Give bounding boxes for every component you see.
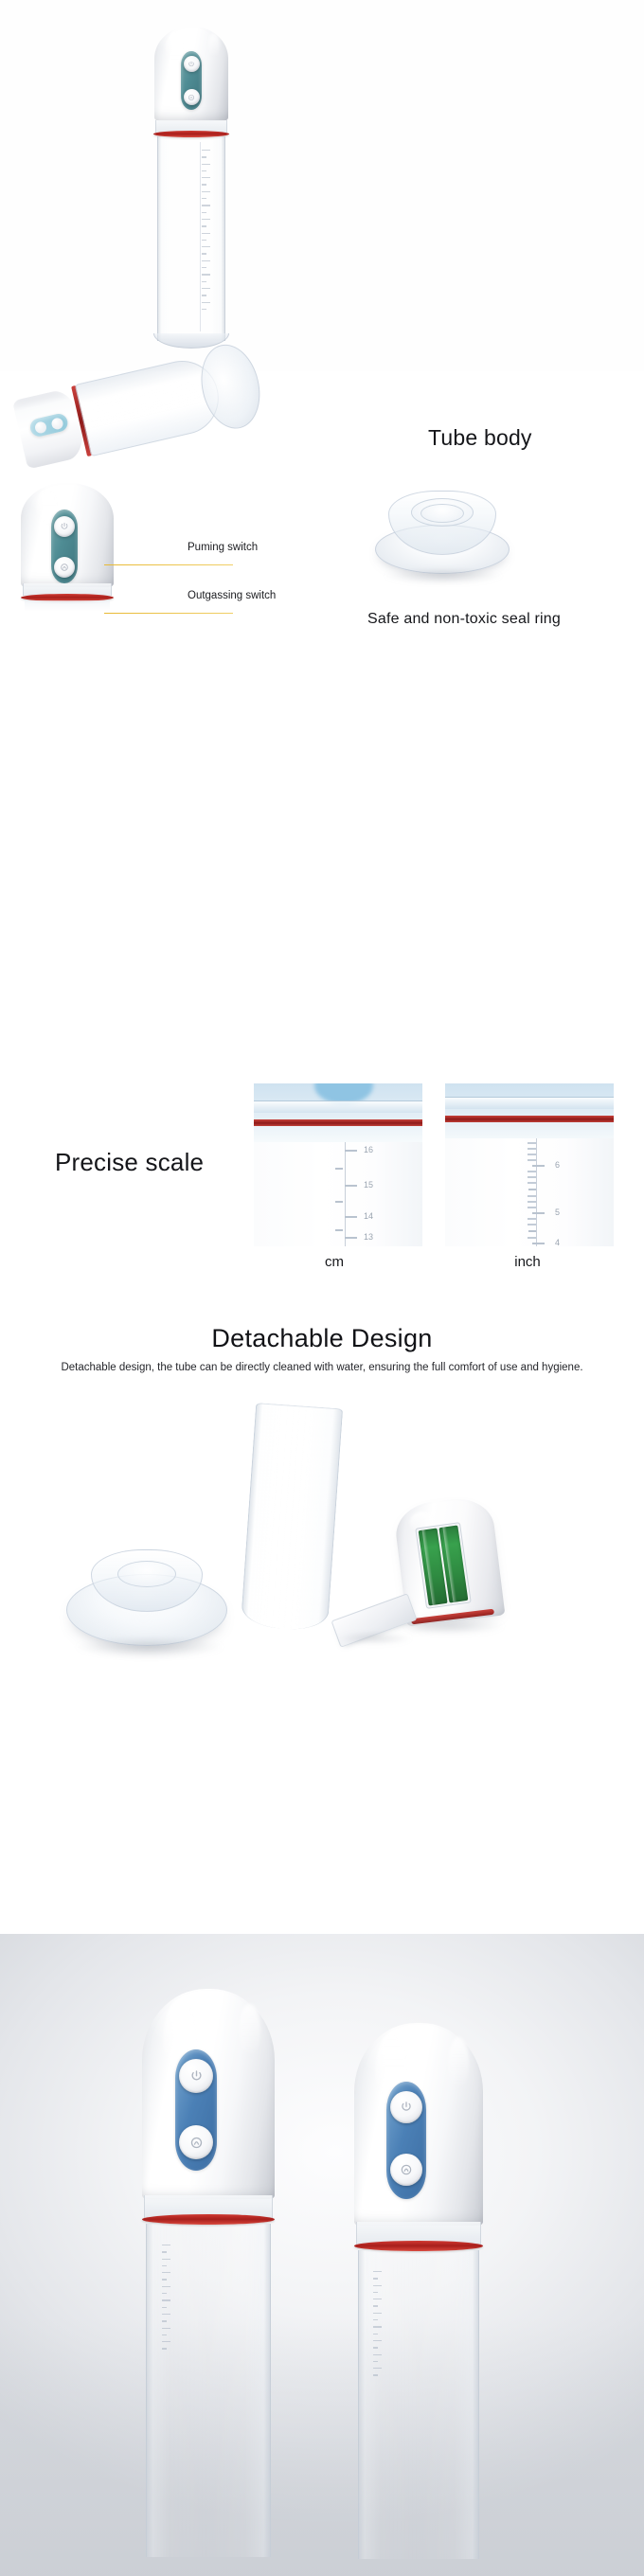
inch-tick-fine — [528, 1237, 536, 1239]
exploded-base-inner-ring — [117, 1561, 176, 1587]
cm-tick-major — [345, 1216, 357, 1218]
gallery-right-scale-ticks — [373, 2271, 382, 2382]
inch-unit-label: inch — [494, 1254, 561, 1270]
release-button[interactable] — [184, 89, 200, 105]
closeup-power-button[interactable] — [54, 516, 75, 537]
gallery-unit-left — [142, 1989, 282, 2557]
gallery-right-power-button[interactable] — [390, 2091, 422, 2123]
gallery-right-tube — [358, 2250, 479, 2559]
gallery-left-scale-ticks — [162, 2245, 170, 2355]
cap-closeup-photo — [15, 483, 121, 612]
seal-ring-photo — [375, 485, 510, 583]
gallery-left-tube — [146, 2224, 271, 2557]
tube-body-label: Tube body — [428, 425, 532, 451]
callout-label-puming: Puming switch — [188, 542, 258, 553]
power-icon — [189, 2069, 204, 2084]
cm-tick-major — [345, 1237, 357, 1239]
inch-tick-fine — [528, 1159, 536, 1161]
product-feature-page: Tube body — [0, 0, 644, 2576]
power-button[interactable] — [184, 56, 200, 72]
gallery-left-power-button[interactable] — [179, 2059, 213, 2093]
gallery-left-release-button[interactable] — [179, 2125, 213, 2159]
leader-line-outgassing — [104, 613, 233, 614]
inch-tick-fine — [528, 1176, 536, 1178]
cm-seal-ring-band — [254, 1119, 422, 1126]
exploded-clear-tube — [241, 1403, 343, 1632]
cm-ruler-cap-band — [254, 1083, 422, 1142]
closeup-release-button[interactable] — [54, 557, 75, 578]
cm-tick-major — [345, 1185, 357, 1187]
precise-scale-heading: Precise scale — [55, 1148, 204, 1177]
cm-tick-minor — [335, 1168, 343, 1170]
inch-tick-fine — [528, 1224, 536, 1225]
power-icon — [188, 61, 195, 68]
inch-tick-fine — [528, 1182, 536, 1184]
inch-ruler-cap-band — [445, 1083, 614, 1142]
inch-tick-label: 5 — [555, 1208, 560, 1217]
inch-tick-label: 4 — [555, 1239, 560, 1246]
detachable-design-section: Detachable Design Detachable design, the… — [0, 1307, 644, 1934]
detachable-title: Detachable Design — [0, 1324, 644, 1353]
air-release-icon — [60, 563, 69, 572]
inch-tick-fine — [528, 1154, 536, 1155]
tube-seam — [200, 142, 201, 331]
gallery-section — [0, 1934, 644, 2576]
inch-glass-band — [445, 1097, 614, 1109]
inch-tick-minor — [528, 1230, 536, 1232]
hero-device — [150, 27, 233, 349]
inch-tick-major — [532, 1212, 545, 1214]
flange-shadow — [383, 568, 504, 583]
power-icon — [60, 522, 69, 531]
inch-tick-fine — [528, 1201, 536, 1203]
precise-scale-section: Precise scale 16 15 14 13 — [0, 1051, 644, 1307]
inch-tick-minor — [528, 1189, 536, 1190]
inch-tick-major — [532, 1165, 545, 1167]
inch-tick-fine — [528, 1148, 536, 1150]
inch-tick-fine — [528, 1195, 536, 1197]
gallery-left-button-pad — [175, 2049, 217, 2171]
cm-ruler-photo: 16 15 14 13 — [254, 1083, 422, 1246]
inch-tick-fine — [528, 1207, 536, 1208]
callout-label-outgassing: Outgassing switch — [188, 590, 276, 601]
air-release-icon — [400, 2163, 413, 2176]
cm-glass-band — [254, 1100, 422, 1113]
cm-ruler-body: 16 15 14 13 — [254, 1142, 422, 1246]
features-section: Tube body — [0, 371, 644, 1051]
hero-section — [0, 0, 644, 371]
inch-tick-fine — [528, 1218, 536, 1220]
cm-tick-minor — [335, 1201, 343, 1203]
exploded-base-shadow — [74, 1637, 225, 1657]
gallery-left-cap-highlight-2-icon — [239, 2004, 259, 2059]
detachable-description: Detachable design, the tube can be direc… — [47, 1360, 597, 1377]
closeup-tube-top — [25, 600, 110, 612]
cm-tick-label: 16 — [364, 1146, 373, 1154]
tube-scale-ticks — [202, 150, 210, 315]
exploded-strip-shadow — [337, 1633, 413, 1644]
cm-tick-label: 13 — [364, 1233, 373, 1242]
gallery-right-cap-highlight-2-icon — [448, 2037, 469, 2090]
inch-ruler-photo: 6 5 4 — [445, 1083, 614, 1246]
gallery-right-button-pad — [386, 2082, 426, 2199]
air-release-icon — [188, 94, 195, 101]
inch-ruler-body: 6 5 4 — [445, 1138, 614, 1246]
gallery-right-release-button[interactable] — [390, 2154, 422, 2186]
closeup-button-pad — [51, 510, 78, 583]
air-release-icon — [189, 2136, 204, 2150]
button-pad — [181, 51, 202, 110]
cap-highlight-secondary-icon — [208, 33, 220, 58]
exploded-product-photo — [59, 1405, 585, 1690]
inch-tick-label: 6 — [555, 1161, 560, 1170]
cm-tick-minor — [335, 1229, 343, 1231]
clear-tube — [157, 136, 225, 341]
inch-tick-fine — [528, 1142, 536, 1144]
cm-tick-label: 14 — [364, 1212, 373, 1221]
inch-seal-ring-band — [445, 1116, 614, 1122]
power-icon — [400, 2101, 413, 2114]
leader-line-puming — [104, 564, 233, 565]
inch-ruler-axis — [536, 1138, 537, 1246]
studio-floor — [0, 2319, 644, 2576]
cm-ruler-axis — [345, 1142, 346, 1246]
cm-tick-major — [345, 1150, 357, 1152]
gallery-unit-right — [354, 2023, 491, 2559]
seal-ring-label: Safe and non-toxic seal ring — [367, 611, 561, 628]
inch-tick-major — [532, 1243, 545, 1244]
cm-unit-label: cm — [301, 1254, 367, 1270]
inch-tick-fine — [528, 1171, 536, 1172]
flange-inner-ring-2 — [420, 504, 464, 523]
cm-tick-label: 15 — [364, 1181, 373, 1190]
